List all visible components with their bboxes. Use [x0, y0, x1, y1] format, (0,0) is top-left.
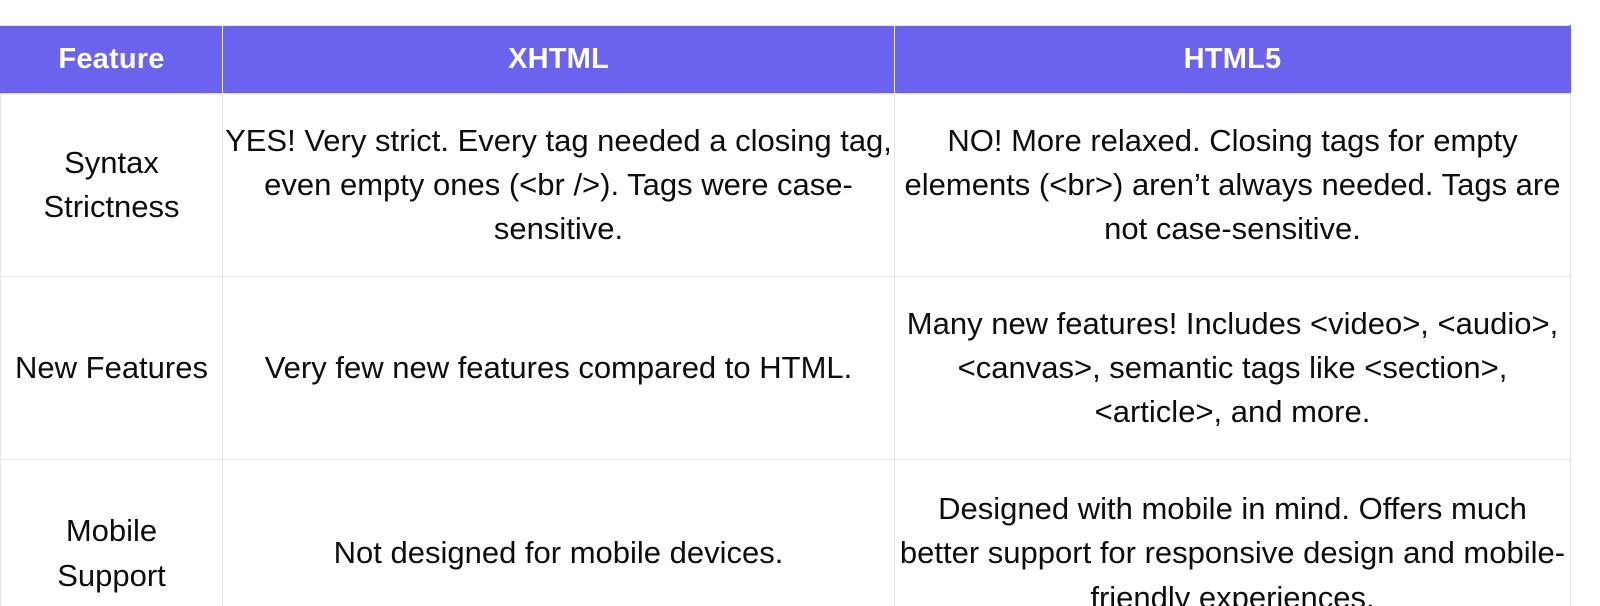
- column-header-xhtml[interactable]: XHTML: [223, 26, 895, 94]
- feature-label: New Features: [11, 346, 212, 390]
- page-root: Feature XHTML HTML5 Syntax Strictness YE…: [0, 0, 1600, 606]
- cell-xhtml-syntax-strictness: YES! Very strict. Every tag needed a clo…: [223, 94, 895, 277]
- feature-label: Mobile Support: [11, 509, 212, 597]
- cell-text: Very few new features compared to HTML.: [223, 346, 894, 390]
- comparison-table: Feature XHTML HTML5 Syntax Strictness YE…: [0, 25, 1571, 606]
- column-header-feature[interactable]: Feature: [1, 26, 223, 94]
- cell-feature-new-features: New Features: [1, 277, 223, 460]
- table-body: Syntax Strictness YES! Very strict. Ever…: [1, 94, 1571, 606]
- cell-feature-mobile-support: Mobile Support: [1, 460, 223, 606]
- cell-text: Many new features! Includes <video>, <au…: [895, 302, 1570, 434]
- cell-html5-syntax-strictness: NO! More relaxed. Closing tags for empty…: [895, 94, 1571, 277]
- table-row: Mobile Support Not designed for mobile d…: [1, 460, 1571, 606]
- cell-text: Designed with mobile in mind. Offers muc…: [895, 487, 1570, 606]
- column-header-html5[interactable]: HTML5: [895, 26, 1571, 94]
- cell-text: Not designed for mobile devices.: [223, 531, 894, 575]
- cell-html5-new-features: Many new features! Includes <video>, <au…: [895, 277, 1571, 460]
- cell-text: YES! Very strict. Every tag needed a clo…: [223, 119, 894, 251]
- feature-label: Syntax Strictness: [11, 141, 212, 229]
- table-row: Syntax Strictness YES! Very strict. Ever…: [1, 94, 1571, 277]
- cell-xhtml-mobile-support: Not designed for mobile devices.: [223, 460, 895, 606]
- cell-xhtml-new-features: Very few new features compared to HTML.: [223, 277, 895, 460]
- table-row: New Features Very few new features compa…: [1, 277, 1571, 460]
- cell-text: NO! More relaxed. Closing tags for empty…: [895, 119, 1570, 251]
- table-header: Feature XHTML HTML5: [1, 26, 1571, 94]
- cell-html5-mobile-support: Designed with mobile in mind. Offers muc…: [895, 460, 1571, 606]
- table-header-row: Feature XHTML HTML5: [1, 26, 1571, 94]
- cell-feature-syntax-strictness: Syntax Strictness: [1, 94, 223, 277]
